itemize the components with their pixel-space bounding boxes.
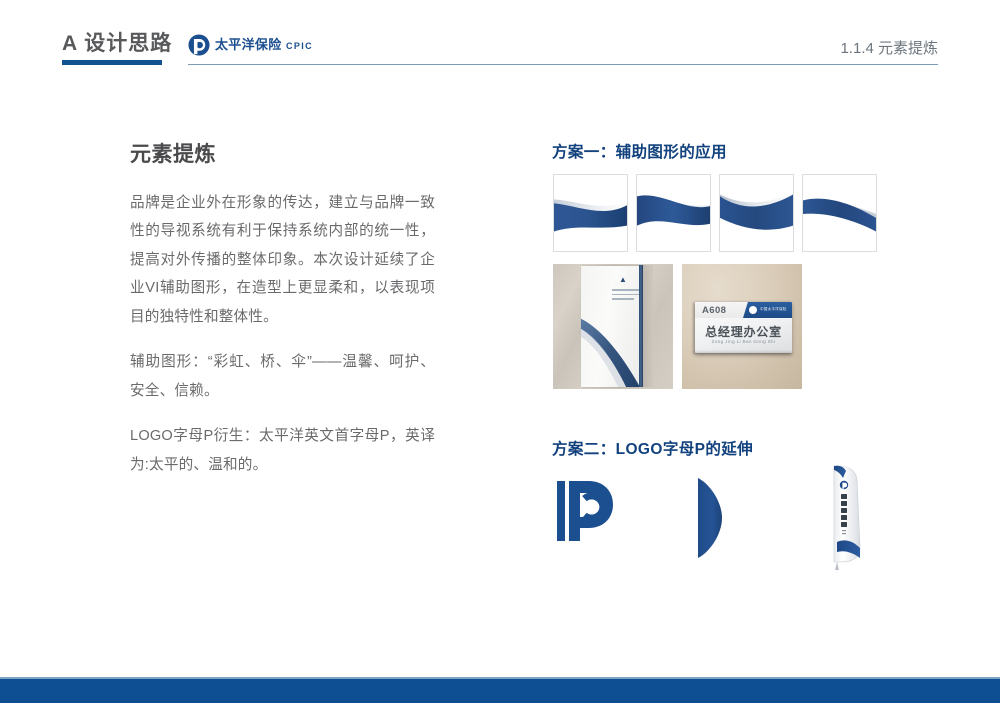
- brand-logo: 太平洋保险 CPIC: [188, 34, 313, 56]
- brand-name-cn: 太平洋保险: [215, 37, 282, 52]
- room-name-pinyin: Zong Jing Li Ban Gong Shi: [695, 339, 792, 344]
- panel-text-lines: [612, 289, 639, 303]
- header-divider-rule: [188, 64, 938, 65]
- scheme-two-graphics-row: [548, 462, 948, 572]
- panel-blue-edge: [639, 265, 643, 387]
- wave-graphic-row: [553, 174, 877, 252]
- cpic-p-logo-mark: [551, 475, 623, 547]
- slide-header: A 设计思路 太平洋保险 CPIC 1.1.4 元素提炼: [0, 0, 1000, 80]
- room-name-cn: 总经理办公室: [695, 323, 792, 340]
- body-paragraph-1: 品牌是企业外在形象的传达，建立与品牌一致性的导视系统有利于保持系统内部的统一性，…: [130, 189, 435, 331]
- scheme-one-heading: 方案一：辅助图形的应用: [552, 140, 944, 162]
- footer-bar: [0, 677, 1000, 703]
- wave-variant-2-tile: [636, 174, 711, 252]
- section-heading: 元素提炼: [130, 138, 435, 168]
- wave-variant-3-tile: [719, 174, 794, 252]
- body-paragraph-3: LOGO字母P衍生：太平洋英文首字母P，英译为:太平的、温和的。: [130, 422, 435, 479]
- brand-name-en: CPIC: [286, 41, 313, 51]
- wave-variant-4-tile: [802, 174, 877, 252]
- p-derived-blade-shape: [696, 476, 726, 560]
- scheme-one-block: 方案一：辅助图形的应用: [552, 140, 944, 162]
- page-title: A 设计思路: [62, 27, 172, 57]
- wall-edge-shade: [643, 265, 653, 387]
- plate-brand-text: 中国太平洋保险: [760, 307, 787, 312]
- feather-flag-banner: [804, 462, 872, 572]
- wayfinding-panel: ▲: [581, 266, 639, 387]
- wayfinding-panel-photo: ▲: [553, 264, 673, 389]
- cpic-p-logo-icon: [749, 306, 757, 314]
- title-underline-rule: [62, 60, 162, 65]
- body-paragraph-2: 辅助图形：“彩虹、桥、伞”——温馨、呵护、安全、信赖。: [130, 348, 435, 405]
- room-number: A608: [702, 305, 726, 316]
- slide-page: A 设计思路 太平洋保险 CPIC 1.1.4 元素提炼 元素提炼 品牌是企业外…: [0, 0, 1000, 707]
- door-plate-photo: 中国太平洋保险 A608 总经理办公室 Zong Jing Li Ban Gon…: [682, 264, 802, 389]
- plate-drop-shadow: [693, 352, 792, 356]
- left-text-column: 元素提炼 品牌是企业外在形象的传达，建立与品牌一致性的导视系统有利于保持系统内部…: [130, 138, 435, 479]
- cpic-p-logo-icon: [188, 34, 210, 56]
- up-arrow-icon: ▲: [619, 276, 627, 284]
- door-plate: 中国太平洋保险 A608 总经理办公室 Zong Jing Li Ban Gon…: [695, 302, 792, 353]
- scheme-two-heading: 方案二：LOGO字母P的延伸: [552, 437, 753, 459]
- section-number: 1.1.4 元素提炼: [840, 37, 938, 58]
- plate-brand-strip: 中国太平洋保险: [743, 302, 792, 318]
- panel-wave-graphic: [581, 311, 639, 387]
- wave-variant-1-tile: [553, 174, 628, 252]
- application-photos-row: ▲: [553, 264, 802, 389]
